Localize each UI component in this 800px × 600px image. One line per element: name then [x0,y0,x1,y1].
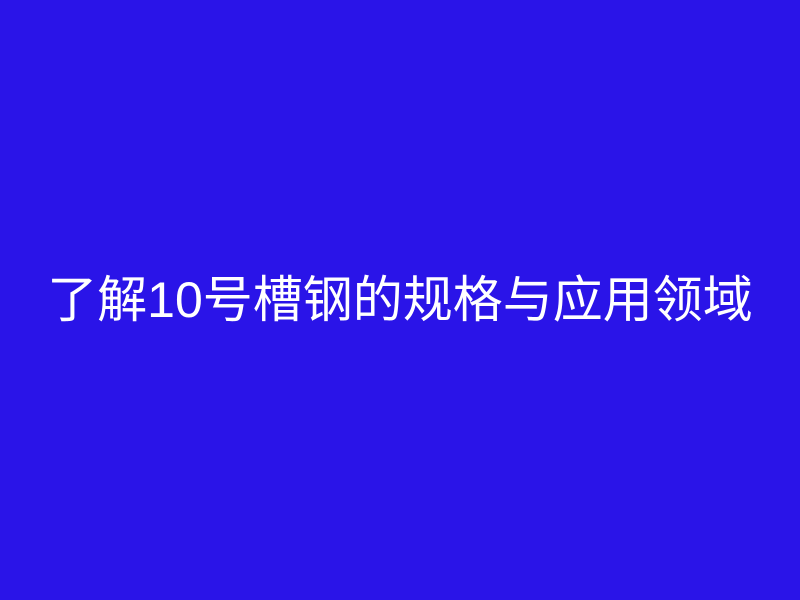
page-title: 了解10号槽钢的规格与应用领域 [47,273,753,328]
banner-canvas: 了解10号槽钢的规格与应用领域 [0,0,800,600]
headline-container: 了解10号槽钢的规格与应用领域 [0,0,800,600]
